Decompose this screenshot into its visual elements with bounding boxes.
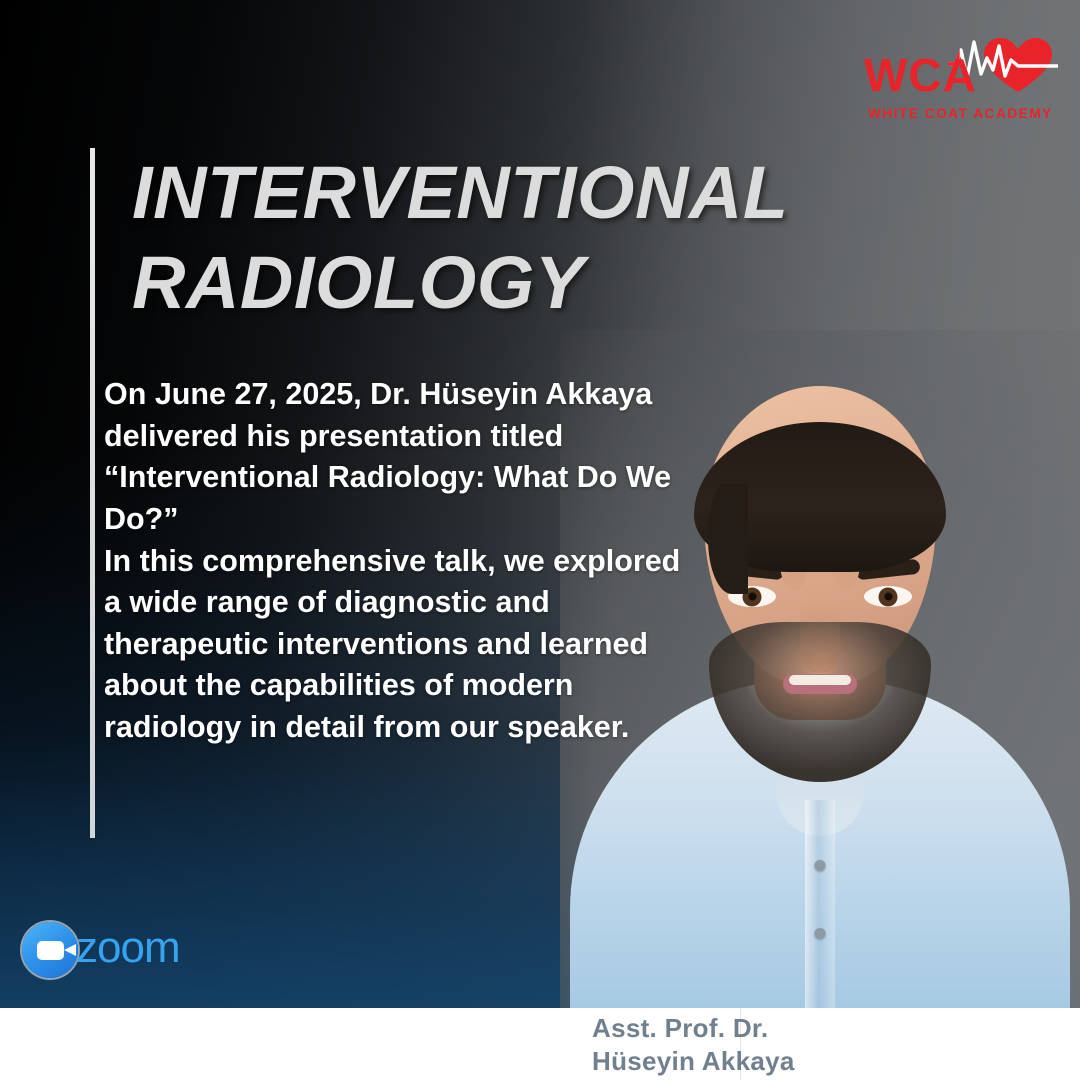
page-title: INTERVENTIONAL RADIOLOGY xyxy=(132,148,812,329)
shirt-placket xyxy=(805,800,835,1010)
speaker-name: Asst. Prof. Dr. Hüseyin Akkaya xyxy=(592,1012,795,1079)
nose xyxy=(800,601,840,673)
logo-subtitle: WHITE COAT ACADEMY xyxy=(868,106,1053,121)
eye-left xyxy=(864,586,912,607)
body-paragraph: On June 27, 2025, Dr. Hüseyin Akkaya del… xyxy=(104,374,704,749)
camera-glyph xyxy=(37,941,64,960)
iris xyxy=(879,587,898,606)
wca-logo: WCA WHITE COAT ACADEMY xyxy=(860,30,1060,130)
zoom-logo: zoom xyxy=(22,922,192,980)
accent-line xyxy=(90,148,95,838)
hair xyxy=(694,422,946,572)
name-band xyxy=(0,1008,1080,1080)
shirt-button xyxy=(815,928,826,939)
video-camera-icon xyxy=(22,922,78,978)
head xyxy=(704,386,936,686)
mouth xyxy=(783,674,857,694)
zoom-wordmark: zoom xyxy=(76,926,180,970)
shirt-button xyxy=(815,860,826,871)
logo-mark: WCA xyxy=(864,52,977,98)
promo-poster: WCA WHITE COAT ACADEMY INTERVENTIONAL RA… xyxy=(0,0,1080,1080)
